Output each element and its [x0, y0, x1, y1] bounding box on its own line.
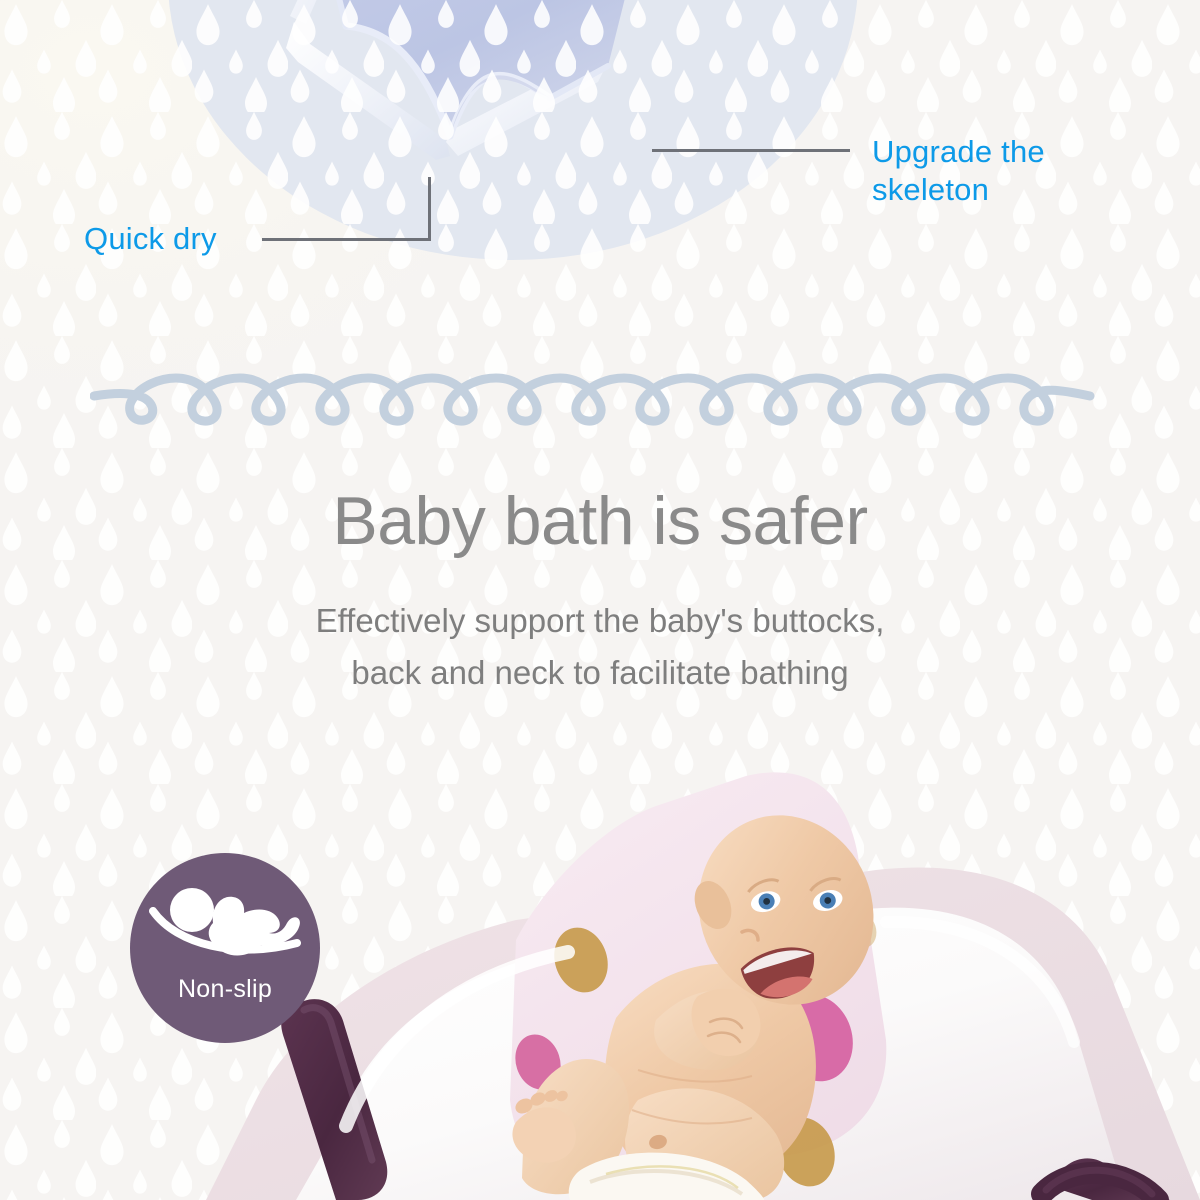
page-subtitle: Effectively support the baby's buttocks,…: [0, 595, 1200, 699]
baby-in-bathtub-photo: [186, 770, 1200, 1200]
bath-seat-mesh-fabric-photo: [250, 0, 670, 250]
callout-label-upgrade-skeleton: Upgrade the skeleton: [872, 133, 1045, 209]
reclining-baby-on-arc-icon: [149, 883, 301, 969]
status-badge: Non-slip: [130, 853, 320, 1043]
upgrade-skeleton-leader-line: [652, 149, 850, 152]
callout-label-quick-dry: Quick dry: [84, 220, 217, 258]
quick-dry-leader-line-horizontal: [262, 238, 431, 241]
product-infographic-poster: Quick dry Upgrade the skeleton Baby bath…: [0, 0, 1200, 1200]
quick-dry-leader-line-vertical: [428, 177, 431, 241]
status-badge-label: Non-slip: [130, 975, 320, 1004]
page-title: Baby bath is safer: [0, 487, 1200, 555]
swirl-divider-ornament: [90, 366, 1110, 428]
